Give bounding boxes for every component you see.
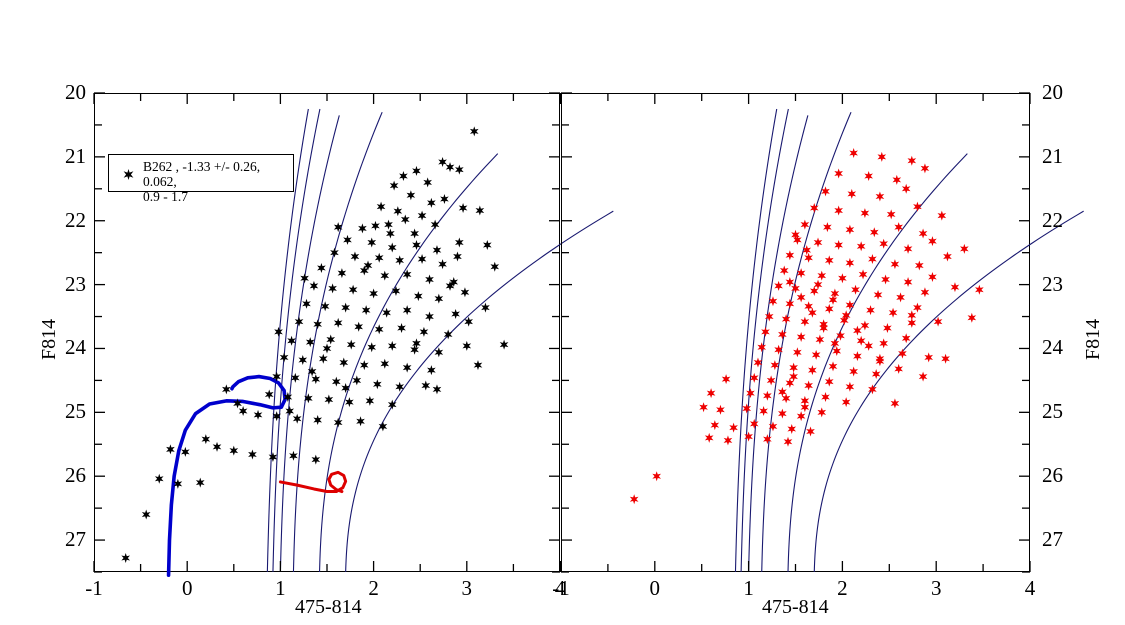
data-point	[202, 434, 211, 444]
data-point	[302, 299, 311, 309]
data-point	[319, 354, 328, 364]
data-point	[334, 318, 343, 328]
data-point	[744, 432, 753, 442]
data-point	[388, 243, 397, 253]
data-point	[410, 345, 419, 355]
y-tick-label-left-20: 20	[46, 82, 86, 103]
data-point	[367, 342, 376, 352]
data-point	[902, 184, 911, 194]
y-tick-label-left-25: 25	[46, 401, 86, 422]
x-axis-title-left: 475-814	[295, 596, 362, 619]
data-point	[412, 166, 421, 176]
data-point	[395, 255, 404, 265]
data-point	[166, 444, 175, 454]
data-point	[323, 343, 332, 353]
data-point	[332, 377, 341, 387]
data-point	[729, 423, 738, 433]
data-point	[797, 292, 806, 302]
data-point	[289, 451, 298, 461]
data-point	[832, 346, 841, 356]
data-point	[339, 358, 348, 368]
data-point	[373, 379, 382, 389]
data-point	[778, 409, 787, 419]
data-point	[483, 240, 492, 250]
data-point	[804, 381, 813, 391]
data-point	[881, 274, 890, 284]
legend-line-1: B262 , -1.33 +/- 0.26, 0.062,	[143, 159, 289, 189]
data-point	[412, 338, 421, 348]
y-tick-label-right-25: 25	[1042, 401, 1082, 422]
data-point	[846, 258, 855, 268]
y-axis-title-right: F814	[1082, 319, 1105, 360]
data-point	[341, 303, 350, 313]
isochrone-curve-3	[749, 115, 808, 572]
x-axis-title-right: 475-814	[762, 596, 829, 619]
data-point	[356, 416, 365, 426]
right-panel-plot	[561, 93, 1030, 572]
data-point	[786, 299, 795, 309]
data-point	[285, 406, 294, 416]
data-point	[311, 455, 320, 465]
data-point	[825, 304, 834, 314]
data-point	[349, 285, 358, 295]
data-point	[846, 382, 855, 392]
data-point	[960, 244, 969, 254]
data-point	[716, 405, 725, 415]
data-point	[403, 363, 412, 373]
data-point	[797, 332, 806, 342]
data-point	[421, 381, 430, 391]
data-point	[774, 281, 783, 291]
data-point	[907, 310, 916, 320]
red-evolutionary-track	[280, 472, 345, 491]
data-point	[907, 156, 916, 166]
data-point	[842, 397, 851, 407]
data-point	[334, 418, 343, 428]
data-point	[345, 397, 354, 407]
data-point	[293, 414, 302, 424]
data-point	[778, 387, 787, 397]
isochrone-curve-6	[814, 211, 1083, 572]
data-point	[427, 365, 436, 375]
data-point	[446, 162, 455, 172]
data-point	[761, 327, 770, 337]
data-point	[462, 341, 471, 351]
data-point	[394, 206, 403, 216]
data-point	[438, 259, 447, 269]
data-point	[847, 189, 856, 199]
isochrone-curve-5	[320, 154, 498, 572]
data-point	[425, 274, 434, 284]
data-point	[630, 494, 639, 504]
data-point	[362, 305, 371, 315]
x-tick-label-left-3: 3	[447, 578, 487, 599]
y-tick-label-left-21: 21	[46, 146, 86, 167]
data-point	[819, 323, 828, 333]
data-point	[902, 333, 911, 343]
data-point	[455, 165, 464, 175]
y-tick-label-right-26: 26	[1042, 465, 1082, 486]
data-point	[500, 340, 509, 350]
data-point	[476, 206, 485, 216]
data-point	[864, 341, 873, 351]
data-point	[418, 254, 427, 264]
data-point	[943, 252, 952, 262]
data-point	[401, 214, 410, 224]
data-point	[951, 282, 960, 292]
y-tick-label-left-22: 22	[46, 210, 86, 231]
data-point	[433, 245, 442, 255]
data-point	[919, 372, 928, 382]
data-point	[866, 305, 875, 315]
data-point	[808, 365, 817, 375]
data-point	[812, 350, 821, 360]
data-point	[891, 259, 900, 269]
data-point	[782, 393, 791, 403]
data-point	[338, 268, 347, 278]
data-point	[849, 148, 858, 158]
y-tick-label-right-20: 20	[1042, 82, 1082, 103]
data-point	[859, 269, 868, 279]
data-point	[834, 240, 843, 250]
data-point	[390, 181, 399, 191]
data-point	[861, 320, 870, 330]
data-point	[928, 236, 937, 246]
data-point	[904, 244, 913, 254]
isochrone-curve-1	[735, 109, 776, 572]
data-point	[459, 203, 468, 213]
data-point	[274, 327, 283, 337]
data-point	[834, 168, 843, 178]
data-point	[375, 324, 384, 334]
y-tick-label-right-23: 23	[1042, 274, 1082, 295]
data-point	[763, 391, 772, 401]
data-point	[298, 355, 307, 365]
x-tick-label-left-0: 0	[167, 578, 207, 599]
data-point	[915, 260, 924, 270]
data-point	[453, 252, 462, 262]
x-tick-label-right-0: 0	[635, 578, 675, 599]
data-point	[975, 285, 984, 295]
data-point	[470, 126, 479, 136]
data-point	[891, 398, 900, 408]
data-point	[229, 446, 238, 456]
data-point	[904, 277, 913, 287]
data-point	[801, 220, 810, 230]
data-point	[853, 351, 862, 361]
data-point	[786, 250, 795, 260]
data-point	[814, 237, 823, 247]
data-point	[898, 349, 907, 359]
data-point	[196, 478, 205, 488]
legend-text: B262 , -1.33 +/- 0.26, 0.062, 0.9 - 1.7	[143, 159, 289, 204]
data-point	[414, 291, 423, 301]
data-point	[382, 308, 391, 318]
x-tick-label-right-4: 4	[1010, 578, 1050, 599]
data-point	[846, 300, 855, 310]
data-point	[757, 342, 766, 352]
data-point	[300, 273, 309, 283]
data-point	[921, 163, 930, 173]
data-point	[789, 372, 798, 382]
data-point	[817, 407, 826, 417]
data-point	[849, 366, 858, 376]
data-point	[410, 229, 419, 239]
legend-line-2: 0.9 - 1.7	[143, 189, 289, 204]
data-point	[778, 329, 787, 339]
data-point	[121, 553, 130, 563]
data-point	[883, 323, 892, 333]
data-point	[804, 301, 813, 311]
data-point	[380, 359, 389, 369]
data-point	[789, 363, 798, 373]
data-point	[330, 248, 339, 258]
data-point	[455, 237, 464, 247]
data-point	[814, 280, 823, 290]
data-point	[310, 281, 319, 291]
data-point	[380, 271, 389, 281]
data-point	[782, 314, 791, 324]
data-point	[868, 254, 877, 264]
data-point	[834, 206, 843, 216]
data-point	[921, 287, 930, 297]
data-point	[889, 308, 898, 318]
data-point	[461, 287, 470, 297]
right-panel	[561, 93, 1030, 572]
data-point	[403, 305, 412, 315]
data-point	[352, 375, 361, 385]
data-point	[386, 229, 395, 239]
data-point	[328, 283, 337, 293]
data-point	[347, 340, 356, 350]
data-point	[375, 253, 384, 263]
data-point	[746, 388, 755, 398]
data-point	[397, 323, 406, 333]
data-point	[474, 360, 483, 370]
data-point	[786, 378, 795, 388]
data-point	[938, 211, 947, 221]
data-point	[317, 263, 326, 273]
data-point	[879, 239, 888, 249]
data-point	[399, 171, 408, 181]
data-point	[829, 361, 838, 371]
y-tick-label-right-27: 27	[1042, 529, 1082, 550]
data-point	[360, 360, 369, 370]
data-point	[894, 364, 903, 374]
data-point	[313, 415, 322, 425]
data-point	[892, 175, 901, 185]
data-point	[420, 327, 429, 337]
data-point	[876, 356, 885, 366]
data-point	[846, 225, 855, 235]
data-point	[879, 338, 888, 348]
data-point	[877, 152, 886, 162]
data-point	[451, 309, 460, 319]
y-tick-label-right-21: 21	[1042, 146, 1082, 167]
data-point	[265, 389, 274, 399]
data-point	[817, 271, 826, 281]
data-point	[857, 241, 866, 251]
data-point	[155, 474, 164, 484]
data-point	[440, 194, 449, 204]
data-point	[427, 198, 436, 208]
data-point	[823, 222, 832, 232]
data-point	[924, 352, 933, 362]
data-point	[829, 295, 838, 305]
y-axis-title-left: F814	[38, 319, 61, 360]
data-point	[786, 277, 795, 287]
data-point	[780, 266, 789, 276]
legend-box: B262 , -1.33 +/- 0.26, 0.062, 0.9 - 1.7	[108, 154, 294, 192]
black-star-marker	[123, 169, 134, 180]
data-point	[379, 421, 388, 431]
data-point	[870, 227, 879, 237]
data-point	[254, 410, 263, 420]
data-point	[722, 374, 731, 384]
data-point	[435, 294, 444, 304]
data-point	[825, 377, 834, 387]
data-point	[377, 202, 386, 212]
data-point	[810, 286, 819, 296]
data-point	[326, 335, 335, 345]
x-tick-label-right-3: 3	[916, 578, 956, 599]
data-point	[896, 292, 905, 302]
data-point	[838, 273, 847, 283]
data-point	[481, 303, 490, 313]
data-point	[366, 396, 375, 406]
data-point	[816, 335, 825, 345]
data-point	[311, 374, 320, 384]
cmd-figure: B262 , -1.33 +/- 0.26, 0.062, 0.9 - 1.7 …	[0, 0, 1125, 625]
x-tick-label-left--1: -1	[74, 578, 114, 599]
data-point	[928, 272, 937, 282]
y-tick-label-left-26: 26	[46, 465, 86, 486]
data-point	[358, 223, 367, 233]
data-point	[325, 395, 334, 405]
data-point	[652, 471, 661, 481]
data-point	[371, 221, 380, 231]
data-point	[388, 341, 397, 351]
data-point-group	[630, 148, 984, 504]
x-tick-label-right--1: -1	[541, 578, 581, 599]
data-point	[804, 253, 813, 263]
data-point	[711, 420, 720, 430]
data-point	[287, 336, 296, 346]
data-point	[861, 208, 870, 218]
y-tick-label-left-23: 23	[46, 274, 86, 295]
data-point	[269, 452, 278, 462]
data-point	[351, 252, 360, 262]
data-point	[836, 331, 845, 341]
data-point	[369, 289, 378, 299]
data-point	[759, 406, 768, 416]
data-point	[941, 354, 950, 364]
y-tick-label-right-24: 24	[1042, 337, 1082, 358]
data-point	[806, 426, 815, 436]
data-point	[797, 411, 806, 421]
data-point	[742, 404, 751, 414]
data-point	[425, 312, 434, 322]
data-point	[763, 434, 772, 444]
data-point	[876, 191, 885, 201]
data-point	[248, 449, 257, 459]
data-point	[864, 171, 873, 181]
data-point	[887, 209, 896, 219]
data-point	[705, 433, 714, 443]
data-point	[239, 406, 248, 416]
y-tick-label-left-27: 27	[46, 529, 86, 550]
data-point	[142, 510, 151, 520]
data-point	[913, 303, 922, 313]
data-point	[821, 392, 830, 402]
data-point	[872, 369, 881, 379]
data-point	[851, 285, 860, 295]
data-point	[384, 220, 393, 230]
data-point	[367, 237, 376, 247]
data-point	[724, 435, 733, 445]
data-point	[801, 317, 810, 327]
data-point	[808, 308, 817, 318]
data-point	[801, 402, 810, 412]
data-point	[343, 235, 352, 245]
data-point	[490, 262, 499, 272]
data-point	[767, 375, 776, 385]
data-point	[423, 177, 432, 187]
data-point	[181, 447, 190, 457]
data-point	[831, 289, 840, 299]
data-point	[784, 437, 793, 447]
data-point	[313, 319, 322, 329]
data-point	[438, 157, 447, 167]
data-point	[213, 442, 222, 452]
data-point	[853, 326, 862, 336]
data-point	[707, 388, 716, 398]
data-point	[793, 347, 802, 357]
data-point	[222, 384, 231, 394]
data-point	[857, 336, 866, 346]
data-point	[418, 211, 427, 221]
data-point	[431, 220, 440, 230]
data-point	[919, 229, 928, 239]
data-point	[825, 255, 834, 265]
data-point	[831, 338, 840, 348]
y-tick-label-right-22: 22	[1042, 210, 1082, 231]
data-point	[295, 317, 304, 327]
data-point	[433, 384, 442, 394]
data-point	[407, 190, 416, 200]
data-point	[874, 290, 883, 300]
data-point	[354, 322, 363, 332]
data-point	[968, 313, 977, 323]
data-point	[699, 402, 708, 412]
data-point	[787, 424, 796, 434]
data-point	[750, 419, 759, 429]
data-point	[280, 352, 289, 362]
